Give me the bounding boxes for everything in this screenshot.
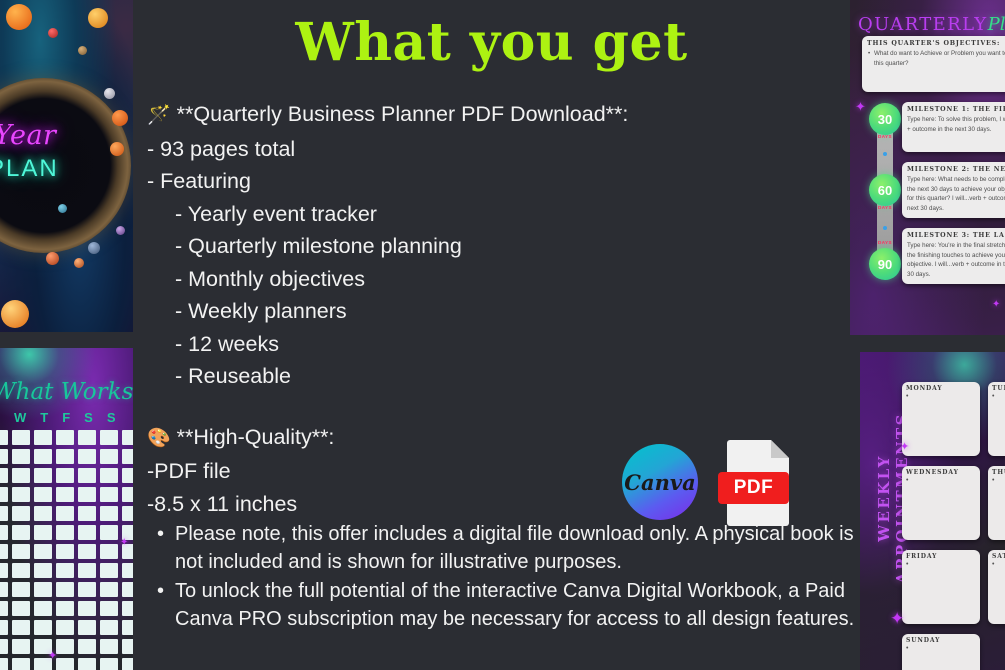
tracker-checkbox[interactable] bbox=[122, 506, 133, 521]
tracker-checkbox[interactable] bbox=[122, 601, 133, 616]
feature-line: - Featuring bbox=[147, 165, 847, 198]
feature-line: - Weekly planners bbox=[147, 295, 847, 328]
tracker-checkbox[interactable] bbox=[12, 563, 30, 578]
tracker-checkbox[interactable] bbox=[56, 601, 74, 616]
tracker-checkbox[interactable] bbox=[56, 658, 74, 670]
day-card-sunday-label: SUNDAY bbox=[906, 637, 976, 644]
tracker-checkbox[interactable] bbox=[78, 639, 96, 654]
tracker-checkbox[interactable] bbox=[100, 506, 118, 521]
milestone-card-1-heading: MILESTONE 1: THE FIRST 30 DAYS bbox=[907, 106, 1005, 113]
milestone-card-2-heading: MILESTONE 2: THE NEXT 30 DAYS bbox=[907, 166, 1005, 173]
day-card-wednesday-label: WEDNESDAY bbox=[906, 469, 976, 476]
tracker-checkbox[interactable] bbox=[12, 525, 30, 540]
tracker-checkbox[interactable] bbox=[12, 487, 30, 502]
orb bbox=[58, 204, 67, 213]
milestone-card-3[interactable]: MILESTONE 3: THE LAST 30 DAYS Type here:… bbox=[902, 228, 1005, 284]
objectives-card-bullet: What do want to Achieve or Problem you w… bbox=[867, 49, 1005, 68]
day-header: T bbox=[0, 410, 1, 425]
tracker-checkbox[interactable] bbox=[100, 430, 118, 445]
habit-tracker-title: What Works bbox=[0, 379, 133, 405]
day-card-bullet: • bbox=[906, 393, 976, 400]
tracker-checkbox[interactable] bbox=[0, 582, 8, 597]
left-preview-column: Year PLAN What Works T W T F S S ✦ ✦ bbox=[0, 0, 133, 670]
weekly-appointments-preview[interactable]: WEEKLY APPOINTMENTS MONDAY • TUESDAY • W… bbox=[860, 352, 1005, 670]
tracker-checkbox[interactable] bbox=[78, 544, 96, 559]
cover-title-script: Year bbox=[0, 120, 114, 151]
canva-logo-label: Canva bbox=[624, 470, 695, 495]
tracker-checkbox[interactable] bbox=[56, 563, 74, 578]
milestone-card-3-body: Type here: You're in the final stretch! … bbox=[907, 241, 1005, 279]
tracker-checkbox[interactable] bbox=[100, 658, 118, 670]
day-card-thursday-label: THURSDAY bbox=[992, 469, 1005, 476]
tracker-checkbox[interactable] bbox=[12, 582, 30, 597]
orb bbox=[104, 88, 115, 99]
feature-line: - 93 pages total bbox=[147, 133, 847, 166]
day-card-monday-label: MONDAY bbox=[906, 385, 976, 392]
feature-line: - Monthly objectives bbox=[147, 263, 847, 296]
day-card-tuesday[interactable]: TUESDAY • bbox=[988, 382, 1005, 456]
day-card-saturday[interactable]: SATURDAY • bbox=[988, 550, 1005, 624]
tracker-checkbox[interactable] bbox=[100, 582, 118, 597]
tracker-checkbox[interactable] bbox=[56, 525, 74, 540]
orb bbox=[74, 258, 84, 268]
milestone-card-3-heading: MILESTONE 3: THE LAST 30 DAYS bbox=[907, 232, 1005, 239]
orb bbox=[116, 226, 125, 235]
tracker-checkbox[interactable] bbox=[78, 582, 96, 597]
tracker-checkbox[interactable] bbox=[12, 639, 30, 654]
tracker-checkbox[interactable] bbox=[0, 506, 8, 521]
tracker-checkbox[interactable] bbox=[12, 601, 30, 616]
tracker-checkbox[interactable] bbox=[12, 449, 30, 464]
tracker-checkbox[interactable] bbox=[56, 449, 74, 464]
tracker-checkbox[interactable] bbox=[78, 658, 96, 670]
tracker-checkbox[interactable] bbox=[100, 601, 118, 616]
disclaimer-list: Please note, this offer includes a digit… bbox=[147, 520, 859, 634]
tracker-checkbox[interactable] bbox=[78, 468, 96, 483]
tracker-checkbox[interactable] bbox=[0, 468, 8, 483]
quarterly-title-caps: QUARTERLY bbox=[858, 14, 988, 35]
tracker-checkbox[interactable] bbox=[34, 544, 52, 559]
sparkle-icon: ✦ bbox=[890, 610, 904, 627]
tracker-checkbox[interactable] bbox=[78, 449, 96, 464]
tracker-checkbox[interactable] bbox=[0, 430, 8, 445]
tracker-checkbox[interactable] bbox=[34, 582, 52, 597]
tracker-checkbox[interactable] bbox=[56, 506, 74, 521]
objectives-card-heading: THIS QUARTER'S OBJECTIVES: bbox=[867, 40, 1005, 47]
day-card-bullet: • bbox=[906, 645, 976, 652]
planner-cover-preview[interactable]: Year PLAN bbox=[0, 0, 133, 332]
orb bbox=[88, 242, 100, 254]
tracker-checkbox[interactable] bbox=[122, 468, 133, 483]
milestone-card-2-body: Type here: What needs to be completed in… bbox=[907, 175, 1005, 213]
day-card-monday[interactable]: MONDAY • bbox=[902, 382, 980, 456]
day-card-friday-label: FRIDAY bbox=[906, 553, 976, 560]
milestone-circle-90: 90 bbox=[869, 248, 901, 280]
day-card-saturday-label: SATURDAY bbox=[992, 553, 1005, 560]
day-card-tuesday-label: TUESDAY bbox=[992, 385, 1005, 392]
tracker-checkbox[interactable] bbox=[100, 525, 118, 540]
tracker-checkbox[interactable] bbox=[34, 525, 52, 540]
day-card-friday[interactable]: FRIDAY • bbox=[902, 550, 980, 624]
tracker-checkbox[interactable] bbox=[100, 544, 118, 559]
tracker-checkbox[interactable] bbox=[56, 582, 74, 597]
feature-line: - Yearly event tracker bbox=[147, 198, 847, 231]
tracker-checkbox[interactable] bbox=[122, 620, 133, 635]
milestone-days-label-30: DAYS bbox=[869, 134, 901, 139]
tracker-checkbox[interactable] bbox=[78, 601, 96, 616]
tracker-checkbox[interactable] bbox=[12, 468, 30, 483]
orb bbox=[112, 110, 128, 126]
day-card-bullet: • bbox=[906, 561, 976, 568]
tracker-checkbox[interactable] bbox=[56, 544, 74, 559]
milestone-card-1-body: Type here: To solve this problem, I will… bbox=[907, 115, 1005, 134]
tracker-checkbox[interactable] bbox=[100, 487, 118, 502]
tracker-checkbox[interactable] bbox=[0, 620, 8, 635]
center-content: What you get 🪄**Quarterly Business Plann… bbox=[133, 0, 850, 670]
quarterly-planner-preview[interactable]: QUARTERLYPl THIS QUARTER'S OBJECTIVES: W… bbox=[850, 0, 1005, 335]
orb bbox=[88, 8, 108, 28]
day-card-bullet: • bbox=[992, 393, 1005, 400]
tracker-checkbox[interactable] bbox=[34, 487, 52, 502]
tracker-checkbox[interactable] bbox=[34, 430, 52, 445]
sparkle-icon: ✦ bbox=[855, 100, 866, 113]
tracker-checkbox[interactable] bbox=[0, 563, 8, 578]
disclaimer-bullet: Please note, this offer includes a digit… bbox=[147, 520, 859, 576]
day-header: S bbox=[84, 410, 94, 425]
page-title: What you get bbox=[133, 12, 850, 73]
tracker-checkbox[interactable] bbox=[78, 525, 96, 540]
tracker-checkbox[interactable] bbox=[0, 658, 8, 670]
tracker-checkbox[interactable] bbox=[122, 449, 133, 464]
tracker-checkbox[interactable] bbox=[56, 620, 74, 635]
tracker-checkbox[interactable] bbox=[0, 544, 8, 559]
tracker-checkbox[interactable] bbox=[0, 487, 8, 502]
tracker-checkbox[interactable] bbox=[56, 639, 74, 654]
feature-line: 🪄**Quarterly Business Planner PDF Downlo… bbox=[147, 98, 847, 133]
tracker-checkbox[interactable] bbox=[100, 468, 118, 483]
milestone-circle-30: 30 bbox=[869, 103, 901, 135]
timeline-dot bbox=[883, 152, 887, 156]
tracker-checkbox[interactable] bbox=[56, 487, 74, 502]
tracker-checkbox[interactable] bbox=[34, 449, 52, 464]
tracker-checkbox[interactable] bbox=[34, 563, 52, 578]
tracker-checkbox[interactable] bbox=[78, 506, 96, 521]
day-card-sunday[interactable]: SUNDAY • bbox=[902, 634, 980, 670]
day-header: W bbox=[14, 410, 27, 425]
tracker-checkbox[interactable] bbox=[122, 639, 133, 654]
tracker-checkbox[interactable] bbox=[12, 506, 30, 521]
feature-line: - 12 weeks bbox=[147, 328, 847, 361]
magic-wand-icon: 🪄 bbox=[147, 105, 171, 126]
cover-title-block: PLAN bbox=[0, 155, 108, 183]
tracker-checkbox[interactable] bbox=[100, 639, 118, 654]
orb bbox=[78, 46, 87, 55]
day-card-bullet: • bbox=[906, 477, 976, 484]
sparkle-icon: ✦ bbox=[120, 538, 128, 548]
tracker-checkbox[interactable] bbox=[56, 468, 74, 483]
day-card-wednesday[interactable]: WEDNESDAY • bbox=[902, 466, 980, 540]
product-listing-image: Year PLAN What Works T W T F S S ✦ ✦ Wha… bbox=[0, 0, 1005, 670]
day-header: T bbox=[40, 410, 49, 425]
day-header: F bbox=[62, 410, 71, 425]
tracker-checkbox[interactable] bbox=[78, 620, 96, 635]
day-card-bullet: • bbox=[992, 561, 1005, 568]
tracker-checkbox[interactable] bbox=[100, 563, 118, 578]
sparkle-icon: ✦ bbox=[48, 651, 57, 662]
canva-logo: Canva bbox=[622, 444, 698, 520]
tracker-checkbox[interactable] bbox=[0, 449, 8, 464]
palette-icon: 🎨 bbox=[147, 428, 171, 449]
tracker-checkbox[interactable] bbox=[34, 506, 52, 521]
milestone-card-1[interactable]: MILESTONE 1: THE FIRST 30 DAYS Type here… bbox=[902, 102, 1005, 152]
tracker-checkbox[interactable] bbox=[12, 544, 30, 559]
tracker-checkbox[interactable] bbox=[0, 639, 8, 654]
tracker-checkbox[interactable] bbox=[0, 525, 8, 540]
milestone-days-label-90: DAYS bbox=[869, 240, 901, 245]
disclaimer-bullet: To unlock the full potential of the inte… bbox=[147, 577, 859, 633]
tracker-checkbox[interactable] bbox=[56, 430, 74, 445]
tracker-checkbox[interactable] bbox=[122, 582, 133, 597]
tracker-checkbox[interactable] bbox=[12, 430, 30, 445]
tracker-checkbox[interactable] bbox=[34, 601, 52, 616]
orb bbox=[1, 300, 29, 328]
tracker-checkbox[interactable] bbox=[78, 430, 96, 445]
habit-tracker-grid[interactable] bbox=[0, 430, 133, 670]
spacer bbox=[147, 393, 847, 421]
quarterly-preview-title: QUARTERLYPl bbox=[858, 14, 1005, 35]
feature-line: - Reuseable bbox=[147, 360, 847, 393]
timeline-dot bbox=[883, 226, 887, 230]
objectives-card[interactable]: THIS QUARTER'S OBJECTIVES: What do want … bbox=[862, 36, 1005, 92]
sparkle-icon: ✦ bbox=[900, 442, 909, 453]
right-preview-column: QUARTERLYPl THIS QUARTER'S OBJECTIVES: W… bbox=[850, 0, 1005, 670]
tracker-checkbox[interactable] bbox=[122, 487, 133, 502]
habit-tracker-preview[interactable]: What Works T W T F S S ✦ ✦ bbox=[0, 348, 133, 670]
milestone-circle-60: 60 bbox=[869, 174, 901, 206]
day-header: S bbox=[107, 410, 117, 425]
feature-line: - Quarterly milestone planning bbox=[147, 230, 847, 263]
sparkle-icon: ✦ bbox=[992, 300, 1000, 310]
tracker-checkbox[interactable] bbox=[122, 430, 133, 445]
milestone-days-label-60: DAYS bbox=[869, 205, 901, 210]
day-card-bullet: • bbox=[992, 477, 1005, 484]
day-card-thursday[interactable]: THURSDAY • bbox=[988, 466, 1005, 540]
milestone-card-2[interactable]: MILESTONE 2: THE NEXT 30 DAYS Type here:… bbox=[902, 162, 1005, 218]
tracker-checkbox[interactable] bbox=[78, 487, 96, 502]
tracker-checkbox[interactable] bbox=[12, 658, 30, 670]
tracker-checkbox[interactable] bbox=[100, 449, 118, 464]
tracker-checkbox[interactable] bbox=[34, 620, 52, 635]
tracker-checkbox[interactable] bbox=[0, 601, 8, 616]
quarterly-title-script: Pl bbox=[988, 14, 1005, 35]
tracker-checkbox[interactable] bbox=[122, 658, 133, 670]
pdf-badge-label: PDF bbox=[718, 472, 789, 504]
orb bbox=[6, 4, 32, 30]
habit-tracker-day-headers: T W T F S S bbox=[0, 410, 133, 425]
tracker-checkbox[interactable] bbox=[122, 563, 133, 578]
tracker-checkbox[interactable] bbox=[34, 468, 52, 483]
orb bbox=[48, 28, 58, 38]
pdf-file-icon: PDF bbox=[727, 440, 797, 526]
orb bbox=[46, 252, 59, 265]
tracker-checkbox[interactable] bbox=[100, 620, 118, 635]
tracker-checkbox[interactable] bbox=[78, 563, 96, 578]
tracker-checkbox[interactable] bbox=[12, 620, 30, 635]
pdf-fold-corner bbox=[771, 440, 789, 458]
